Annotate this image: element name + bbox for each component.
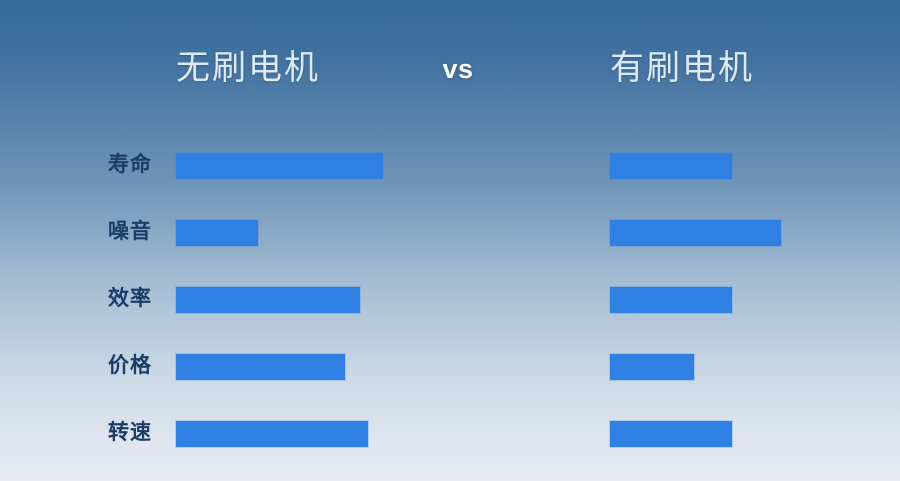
bar-brushed [610,287,732,313]
bar-brushless [176,153,383,179]
column-title-brushed: 有刷电机 [610,44,860,92]
bar-brushless [176,421,368,447]
bar-brushless [176,220,258,246]
row-label: 寿命 [62,151,152,179]
row-label: 噪音 [62,218,152,246]
vs-separator-label: vs [418,46,498,92]
comparison-header: 无刷电机 vs 有刷电机 [0,44,900,96]
comparison-slide: 无刷电机 vs 有刷电机 寿命噪音效率价格转速 [0,0,900,481]
row-label: 效率 [62,285,152,313]
comparison-row: 寿命 [0,153,900,180]
comparison-row: 价格 [0,354,900,381]
bar-brushed [610,354,694,380]
row-label: 价格 [62,352,152,380]
comparison-row: 噪音 [0,220,900,247]
bar-brushed [610,421,732,447]
bar-brushed [610,153,732,179]
row-label: 转速 [62,419,152,447]
comparison-row: 效率 [0,287,900,314]
comparison-row: 转速 [0,421,900,448]
column-title-brushless: 无刷电机 [176,44,406,92]
bar-brushed [610,220,781,246]
bar-brushless [176,287,360,313]
bar-brushless [176,354,345,380]
